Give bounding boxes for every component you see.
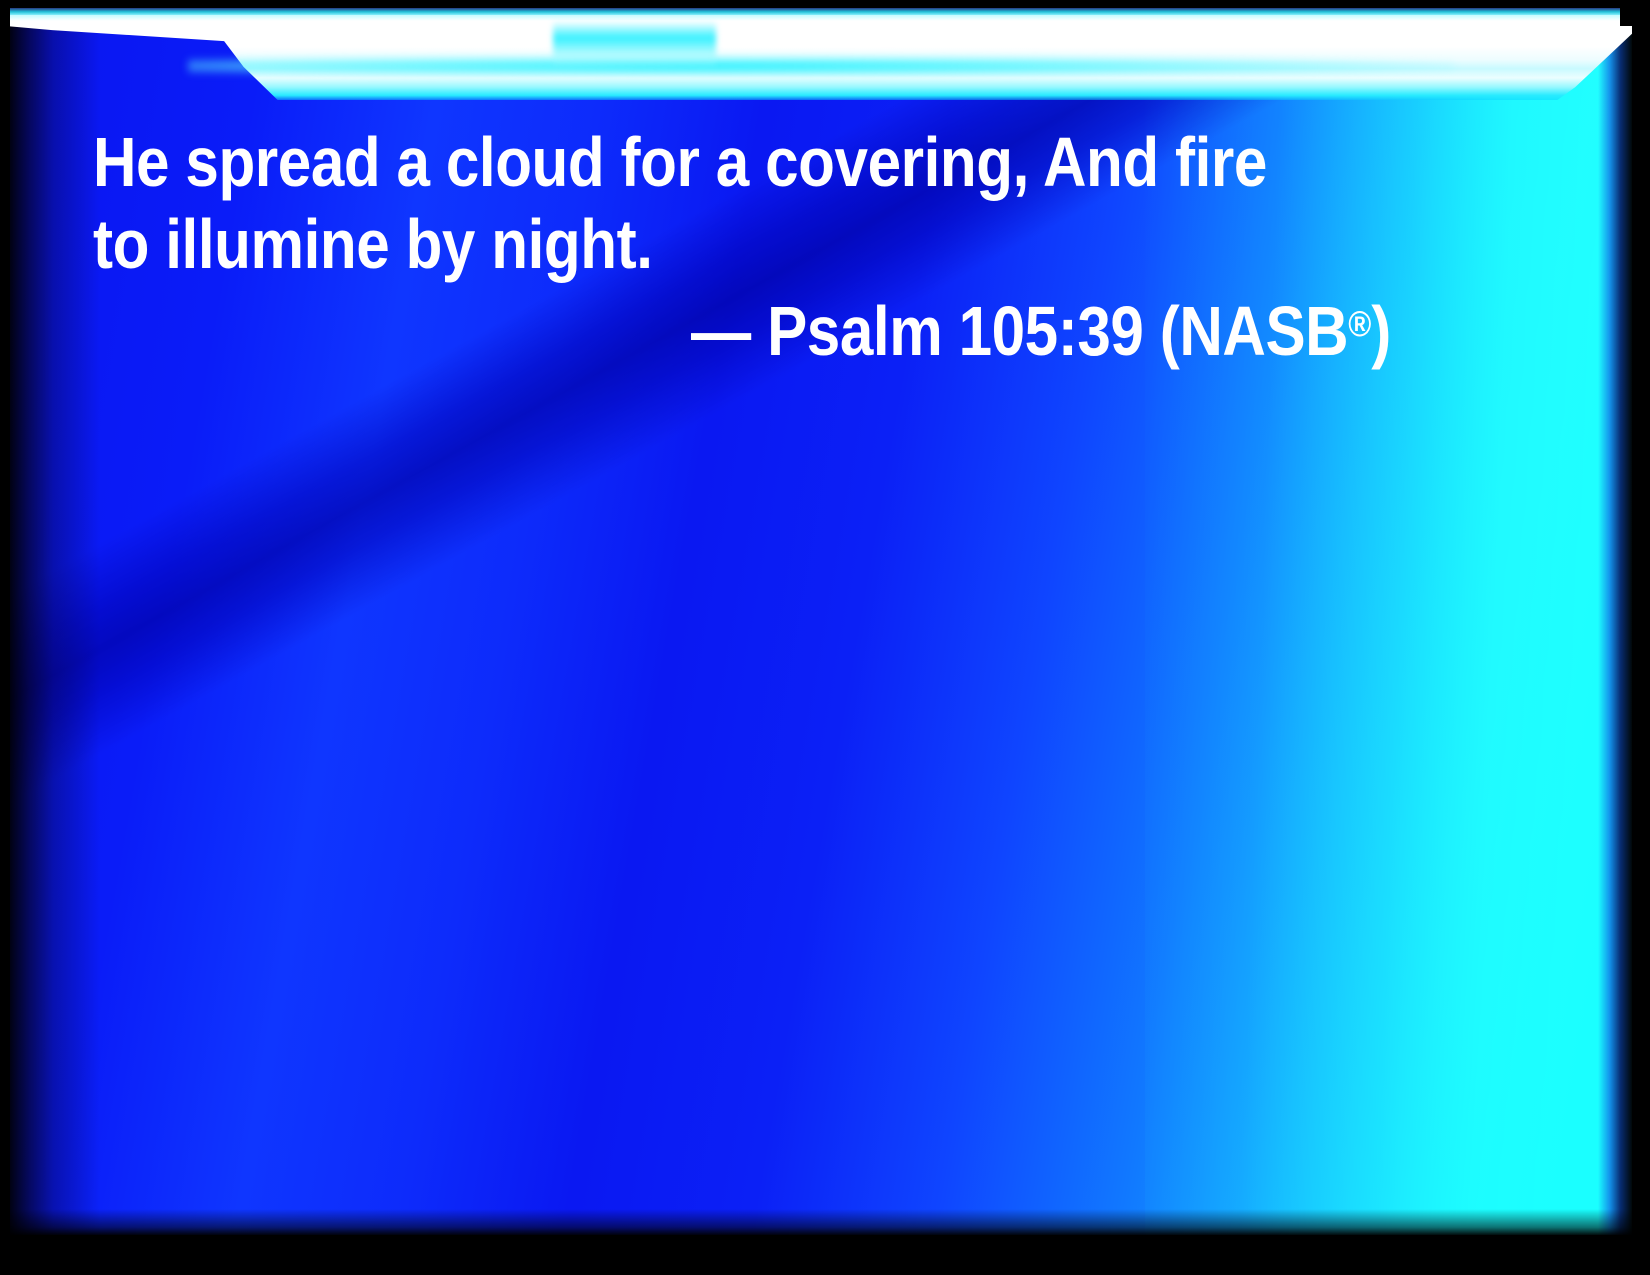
background-right-shade bbox=[1598, 8, 1632, 1235]
background-bottom-shade bbox=[10, 1209, 1632, 1235]
frame-corner-top-right bbox=[1620, 0, 1650, 26]
background-cyan-right-edge bbox=[1145, 8, 1632, 1235]
background-artwork bbox=[10, 8, 1632, 1235]
frame-border-bottom bbox=[0, 1235, 1650, 1275]
frame-border-right bbox=[1632, 0, 1650, 1275]
frame-border-left bbox=[0, 0, 10, 1275]
frame-border-top bbox=[0, 0, 1650, 8]
verse-slide: He spread a cloud for a covering, And fi… bbox=[0, 0, 1650, 1275]
background-left-shade bbox=[10, 8, 100, 1235]
